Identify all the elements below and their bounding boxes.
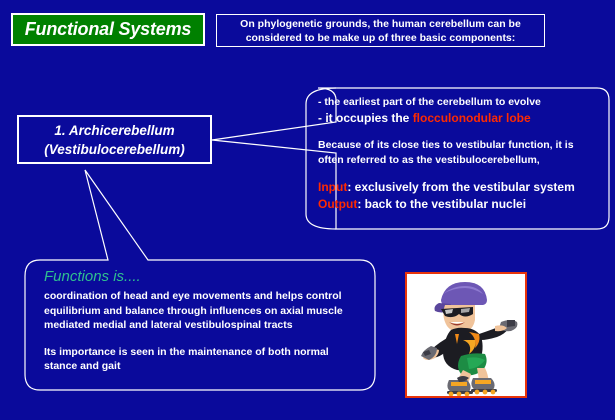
header-statement-box: On phylogenetic grounds, the human cereb… [216,14,545,47]
component-box-line-2: (Vestibulocerebellum) [44,140,185,159]
right-callout-bullet-1: - the earliest part of the cerebellum to… [318,95,606,110]
functions-line-1: coordination of head and eye movements a… [44,289,364,304]
right-callout-input-row: Input: exclusively from the vestibular s… [318,179,606,196]
input-text: : exclusively from the vestibular system [347,180,574,194]
right-callout-highlight-flocculonodular: flocculonodular lobe [413,111,531,125]
rollerblading-kid-icon [407,274,525,396]
functions-line-3: mediated medial and lateral vestibulospi… [44,318,364,333]
functions-line-4: Its importance is seen in the maintenanc… [44,345,364,360]
input-label: Input [318,180,347,194]
header-statement-line-1: On phylogenetic grounds, the human cereb… [240,17,521,31]
functions-heading: Functions is.... [44,266,364,287]
page-title: Functional Systems [25,19,191,40]
header-statement-line-2: considered to be make up of three basic … [246,31,516,45]
component-box-archicerebellum: 1. Archicerebellum (Vestibulocerebellum) [17,115,212,164]
slide-canvas: Functional Systems On phylogenetic groun… [0,0,615,420]
functions-line-5: stance and gait [44,359,364,374]
right-callout-bullet-2: - it occupies the flocculonodular lobe [318,110,606,127]
slide-title-box: Functional Systems [11,13,205,46]
right-callout-bullet-2-prefix: - it occupies the [318,111,413,125]
right-callout-output-row: Output: back to the vestibular nuclei [318,196,606,213]
clipart-frame [405,272,527,398]
right-callout-para-line-2: often referred to as the vestibulocerebe… [318,153,606,168]
functions-line-2: equilibrium and balance through influenc… [44,304,364,319]
right-callout-para-line-1: Because of its close ties to vestibular … [318,138,606,153]
right-callout-spacer-1 [318,127,606,138]
right-callout-spacer-2 [318,168,606,179]
output-label: Output [318,197,357,211]
component-box-line-1: 1. Archicerebellum [54,121,174,140]
output-text: : back to the vestibular nuclei [357,197,526,211]
left-callout-text: Functions is.... coordination of head an… [44,266,364,374]
right-callout-text: - the earliest part of the cerebellum to… [318,95,606,213]
functions-spacer [44,333,364,345]
